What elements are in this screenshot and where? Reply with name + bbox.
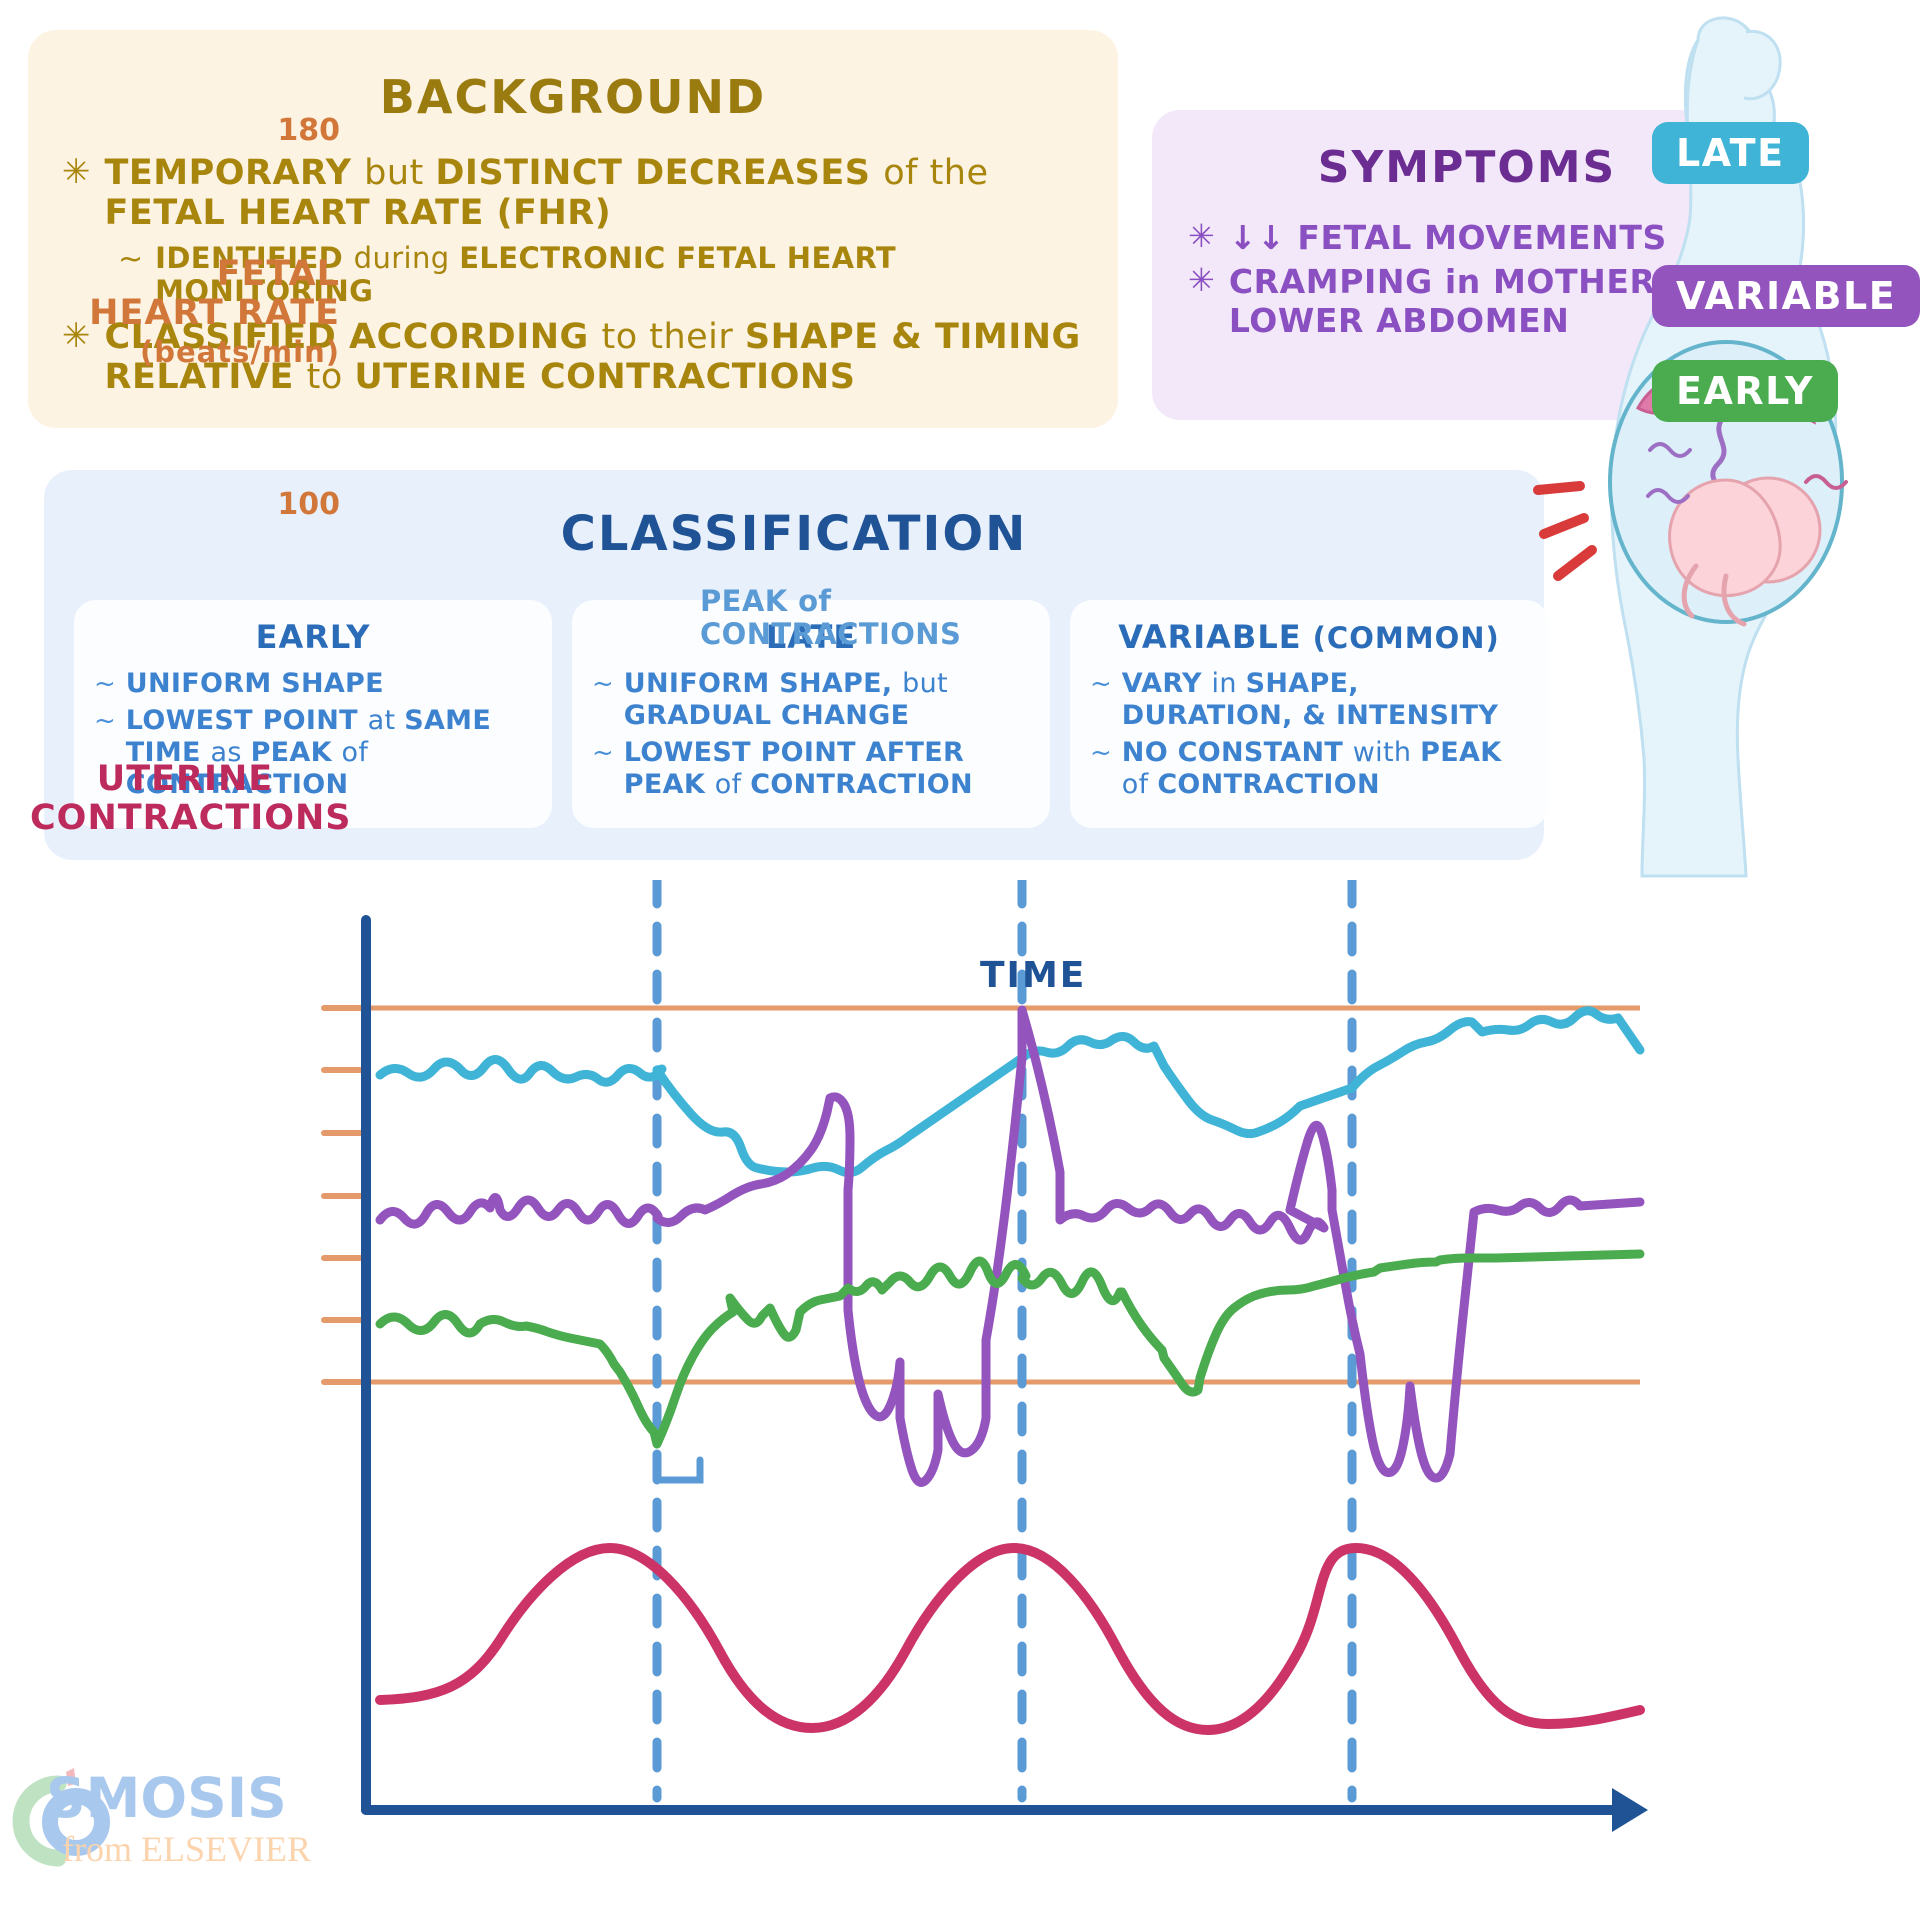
y-axis-label-line2: HEART RATE [89, 293, 340, 333]
classification-bullet: ~UNIFORM SHAPE, but GRADUAL CHANGE [588, 668, 1034, 733]
tilde-marker-icon: ~ [592, 668, 614, 701]
text-run: UTERINE CONTRACTIONS [354, 357, 855, 397]
ponytail-shape [1744, 31, 1780, 98]
classification-bullet: ~VARY in SHAPE, DURATION, & INTENSITY [1086, 668, 1532, 733]
text-run: but [364, 153, 435, 193]
text-run: NO CONSTANT [1122, 737, 1353, 768]
text-run: VARY [1122, 668, 1212, 699]
peak-annotation-line2: CONTRACTIONS [700, 617, 961, 651]
classification-heading-main: EARLY [256, 618, 371, 656]
classification-heading-main: VARIABLE [1118, 618, 1301, 656]
classification-bullet: ~LOWEST POINT AFTER PEAK of CONTRACTION [588, 737, 1034, 802]
background-bullet: ✳TEMPORARY but DISTINCT DECREASES of the… [62, 154, 1118, 234]
legend-pill-variable[interactable]: VARIABLE [1652, 265, 1920, 327]
legend-pill-late[interactable]: LATE [1652, 122, 1809, 184]
classification-bullet-text: VARY in SHAPE, DURATION, & INTENSITY [1122, 668, 1532, 733]
text-run: PEAK [1420, 737, 1501, 768]
text-run: LOWEST POINT [126, 705, 368, 736]
osmosis-elsevier-subtitle: from ELSEVIER [62, 1828, 311, 1870]
text-run: FETAL HEART RATE (FHR) [105, 193, 612, 233]
osmosis-wordmark: SMOSIS [46, 1766, 287, 1830]
text-run: with [1353, 737, 1420, 768]
classification-bullet-text: LOWEST POINT AFTER PEAK of CONTRACTION [624, 737, 1034, 802]
text-run: at [368, 705, 405, 736]
text-run: but [902, 668, 948, 699]
text-run: CONTRACTION [1157, 769, 1380, 800]
y-axis-units: (beats/min) [140, 335, 340, 369]
text-run: in [1212, 668, 1246, 699]
peak-of-contractions-annotation: PEAK of CONTRACTIONS [700, 585, 961, 651]
classification-heading-note: (COMMON) [1302, 621, 1500, 655]
tilde-marker-icon: ~ [1090, 737, 1112, 770]
classification-bullet-text: UNIFORM SHAPE [126, 668, 384, 700]
x-axis-label: TIME [980, 955, 1086, 996]
text-run: UNIFORM SHAPE, [624, 668, 902, 699]
classification-box-heading: VARIABLE (COMMON) [1086, 618, 1532, 656]
tilde-marker-icon: ~ [94, 705, 116, 738]
osmosis-logo: SMOSIS from ELSEVIER [10, 1762, 350, 1902]
text-run: during [354, 241, 460, 275]
classification-bullet: ~NO CONSTANT with PEAK of CONTRACTION [1086, 737, 1532, 802]
classification-bullet-text: NO CONSTANT with PEAK of CONTRACTION [1122, 737, 1532, 802]
x-axis-arrow [1612, 1788, 1648, 1832]
uterine-contractions-label: UTERINE CONTRACTIONS [30, 760, 340, 837]
text-run: of [715, 769, 751, 800]
peak-annotation-line1: PEAK of [700, 584, 831, 618]
legend-pill-early[interactable]: EARLY [1652, 360, 1838, 422]
uc-label-line2: CONTRACTIONS [30, 798, 351, 838]
text-run: PEAK [624, 769, 715, 800]
classification-box-variable[interactable]: VARIABLE (COMMON)~VARY in SHAPE, DURATIO… [1070, 600, 1548, 828]
y-axis-label: FETAL HEART RATE (beats/min) [60, 255, 340, 371]
infographic-root: BACKGROUND ✳TEMPORARY but DISTINCT DECRE… [0, 0, 1920, 1918]
text-run: LOWEST POINT [624, 737, 866, 768]
text-run: of [1122, 769, 1158, 800]
text-run: CONTRACTION [750, 769, 973, 800]
asterisk-marker-icon: ✳ [1188, 219, 1215, 254]
asterisk-marker-icon: ✳ [62, 154, 91, 191]
y-tick-label-180: 180 [250, 113, 340, 148]
classification-box-heading: EARLY [90, 618, 536, 656]
asterisk-marker-icon: ✳ [1188, 263, 1215, 298]
classification-bullet-text: UNIFORM SHAPE, but GRADUAL CHANGE [624, 668, 1034, 733]
classification-bullet: ~UNIFORM SHAPE [90, 668, 536, 701]
tilde-marker-icon: ~ [592, 737, 614, 770]
text-run: TEMPORARY [105, 153, 365, 193]
uterine-contractions-trace [380, 1548, 1640, 1730]
text-run: to their [601, 317, 744, 357]
text-run: AFTER [866, 737, 965, 768]
y-axis-ticks [324, 1008, 364, 1382]
text-run: GRADUAL CHANGE [624, 700, 910, 731]
cramp-pain-lines [1538, 486, 1592, 576]
peak-annotation-leader [657, 1460, 700, 1480]
contraction-peak-guides [657, 880, 1352, 1798]
tilde-marker-icon: ~ [1090, 668, 1112, 701]
text-run: of the [883, 153, 988, 193]
text-run: DISTINCT DECREASES [435, 153, 883, 193]
text-run: UNIFORM SHAPE [126, 668, 384, 699]
uc-label-line1: UTERINE [97, 759, 273, 799]
y-tick-label-100: 100 [250, 487, 340, 522]
y-axis-label-line1: FETAL [217, 254, 340, 294]
background-title: BACKGROUND [28, 70, 1118, 124]
text-run: of [342, 737, 369, 768]
tilde-marker-icon: ~ [94, 668, 116, 701]
background-bullet-text: TEMPORARY but DISTINCT DECREASES of the … [105, 154, 1119, 234]
